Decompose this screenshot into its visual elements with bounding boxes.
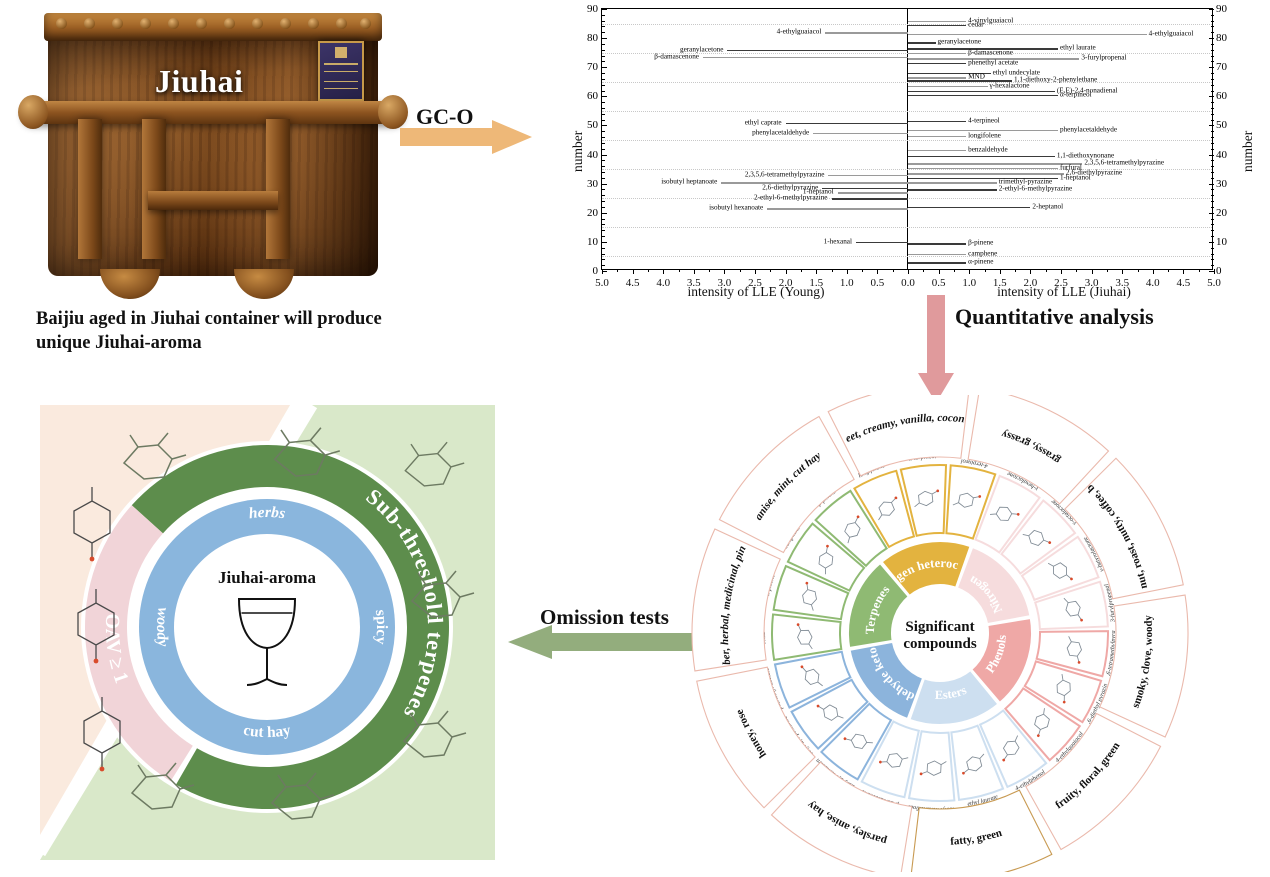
bar — [908, 34, 1147, 35]
y-tick-mark-minor — [1211, 236, 1214, 237]
y-tick-mark-minor — [1211, 108, 1214, 109]
bar-label: 3-furylpropenal — [1081, 55, 1126, 62]
bar-label: 2-ethyl-6-methylpyrazine — [754, 195, 827, 202]
y-tick-mark-minor — [602, 61, 605, 62]
y-tick-mark-minor — [1211, 248, 1214, 249]
x-tick-mark — [1214, 269, 1215, 274]
y-tick-mark — [1209, 184, 1214, 185]
vessel-rail-cap-left — [18, 95, 48, 129]
bar-label: β-damascenone — [654, 53, 699, 60]
y-tick-mark — [1209, 155, 1214, 156]
bar — [908, 207, 1030, 208]
x-tick-mark — [1153, 269, 1154, 274]
x-tick-mark-minor — [954, 269, 955, 272]
bar — [908, 95, 1058, 96]
y-tick-label: 0 — [1216, 265, 1222, 277]
y-tick-mark-minor — [602, 195, 605, 196]
y-tick-mark-minor — [602, 44, 605, 45]
significant-compounds-flavor-wheel: TerpenesOxygen heterocyclesNitrogenPheno… — [690, 395, 1270, 872]
y-tick-mark — [602, 67, 607, 68]
y-tick-mark — [1209, 242, 1214, 243]
jiuhai-title: Jiuhai — [155, 63, 243, 100]
x-tick-mark — [877, 269, 878, 274]
vessel-post-left — [78, 119, 102, 259]
bar-label: cedar — [968, 21, 984, 28]
bar — [908, 150, 966, 151]
bar — [908, 254, 966, 255]
y-tick-mark-minor — [1211, 32, 1214, 33]
y-tick-mark-minor — [602, 230, 605, 231]
y-tick-mark-minor — [1211, 50, 1214, 51]
y-tick-mark-minor — [1211, 85, 1214, 86]
x-tick-mark-minor — [1168, 269, 1169, 272]
y-tick-label: 90 — [587, 3, 598, 15]
y-tick-mark-minor — [1211, 15, 1214, 16]
bar — [822, 188, 908, 189]
x-tick-mark-minor — [770, 269, 771, 272]
x-tick-mark-minor — [648, 269, 649, 272]
x-tick-mark-minor — [1046, 269, 1047, 272]
vessel-crossbar — [148, 191, 278, 210]
x-tick-mark-minor — [679, 269, 680, 272]
y-tick-mark-minor — [1211, 61, 1214, 62]
y-tick-mark-minor — [602, 166, 605, 167]
x-axis-title-right: intensity of LLE (Jiuhai) — [997, 284, 1131, 300]
bar-label: ethyl caprate — [745, 119, 782, 126]
y-tick-label: 30 — [587, 178, 598, 190]
grid-line — [602, 111, 1212, 112]
y-tick-mark — [1209, 38, 1214, 39]
y-tick-label: 20 — [587, 207, 598, 219]
y-tick-label: 40 — [587, 149, 598, 161]
x-tick-label: 4.5 — [626, 277, 640, 289]
bar-label: 2-heptanol — [1032, 203, 1063, 210]
y-tick-mark — [1209, 125, 1214, 126]
bar-label: 4-terpineol — [968, 117, 1000, 124]
vessel-post-right — [266, 119, 290, 259]
y-tick-mark-minor — [602, 131, 605, 132]
x-tick-mark — [847, 269, 848, 274]
y-tick-label: 50 — [1216, 119, 1227, 131]
y-tick-mark-minor — [1211, 265, 1214, 266]
wheel-segment — [692, 529, 780, 671]
x-tick-mark — [969, 269, 970, 274]
y-tick-label: 80 — [587, 32, 598, 44]
bar-label: camphene — [968, 250, 997, 257]
x-tick-mark-minor — [1015, 269, 1016, 272]
y-tick-label: 50 — [587, 119, 598, 131]
bar — [767, 208, 908, 209]
y-tick-mark-minor — [1211, 259, 1214, 260]
bar-label: longifolene — [968, 132, 1001, 139]
y-axis-label-right: number — [1240, 131, 1256, 172]
y-tick-mark-minor — [602, 178, 605, 179]
y-tick-mark — [1209, 9, 1214, 10]
x-tick-mark — [1183, 269, 1184, 274]
y-tick-mark-minor — [602, 26, 605, 27]
x-tick-mark — [786, 269, 787, 274]
y-tick-mark-minor — [1211, 91, 1214, 92]
x-tick-mark-minor — [923, 269, 924, 272]
bar — [908, 63, 966, 64]
y-tick-label: 80 — [1216, 32, 1227, 44]
x-tick-mark — [1061, 269, 1062, 274]
jiuhai-photo: Jiuhai — [10, 5, 410, 305]
y-tick-label: 0 — [593, 265, 599, 277]
bar — [813, 133, 908, 134]
jiuhai-caption: Baijiu aged in Jiuhai container will pro… — [36, 307, 396, 356]
bar — [838, 192, 908, 193]
y-tick-label: 30 — [1216, 178, 1227, 190]
x-tick-mark-minor — [893, 269, 894, 272]
y-tick-mark-minor — [1211, 166, 1214, 167]
x-tick-mark-minor — [1076, 269, 1077, 272]
y-tick-mark-minor — [602, 114, 605, 115]
bar — [908, 243, 966, 244]
y-tick-mark — [602, 155, 607, 156]
aroma-label: cut hay — [242, 722, 292, 742]
bar — [908, 121, 966, 122]
x-tick-mark — [1000, 269, 1001, 274]
bar — [908, 77, 966, 78]
bar — [832, 198, 909, 199]
bar-label: 1-hexanal — [824, 238, 852, 245]
x-tick-mark — [1030, 269, 1031, 274]
quantitative-arrow-label: Quantitative analysis — [955, 304, 1154, 330]
bar-label: phenylacetaldehyde — [1060, 126, 1117, 133]
gco-plot-area: 00101020203030404050506060707080809090 4… — [601, 8, 1213, 270]
y-tick-mark-minor — [1211, 178, 1214, 179]
x-tick-mark — [1122, 269, 1123, 274]
bar-label: β-damascenone — [968, 49, 1013, 56]
y-tick-label: 70 — [1216, 61, 1227, 73]
y-tick-mark-minor — [1211, 102, 1214, 103]
y-tick-mark-minor — [602, 79, 605, 80]
y-tick-mark-minor — [1211, 73, 1214, 74]
x-tick-mark — [816, 269, 817, 274]
y-tick-mark-minor — [1211, 21, 1214, 22]
y-tick-mark-minor — [602, 91, 605, 92]
y-tick-mark-minor — [1211, 195, 1214, 196]
y-tick-mark-minor — [602, 207, 605, 208]
bar — [908, 25, 966, 26]
y-tick-mark — [602, 125, 607, 126]
bar-label: 4-ethylguaiacol — [1149, 30, 1194, 37]
bar — [908, 156, 1055, 157]
x-tick-mark — [724, 269, 725, 274]
bar — [908, 262, 966, 263]
y-tick-mark-minor — [602, 32, 605, 33]
bar — [908, 86, 988, 87]
aroma-label: herbs — [248, 504, 287, 522]
x-tick-mark-minor — [709, 269, 710, 272]
x-tick-mark — [602, 269, 603, 274]
y-tick-mark-minor — [602, 259, 605, 260]
y-tick-mark-minor — [602, 56, 605, 57]
y-tick-mark-minor — [602, 236, 605, 237]
y-tick-mark-minor — [602, 102, 605, 103]
bar — [703, 57, 908, 58]
y-tick-label: 70 — [587, 61, 598, 73]
y-tick-mark — [602, 9, 607, 10]
y-tick-label: 60 — [587, 90, 598, 102]
x-tick-label: 4.0 — [1146, 277, 1160, 289]
grid-line — [602, 227, 1212, 228]
y-tick-mark-minor — [602, 219, 605, 220]
x-tick-mark-minor — [832, 269, 833, 272]
x-tick-label: 0.5 — [871, 277, 885, 289]
vessel-leg-left — [100, 269, 160, 299]
y-tick-mark-minor — [1211, 207, 1214, 208]
y-tick-mark-minor — [1211, 131, 1214, 132]
y-tick-mark-minor — [1211, 79, 1214, 80]
y-tick-mark-minor — [1211, 219, 1214, 220]
y-tick-mark-minor — [1211, 254, 1214, 255]
x-tick-mark-minor — [862, 269, 863, 272]
bar-label: α-terpineol — [1060, 91, 1092, 98]
y-tick-mark-minor — [602, 137, 605, 138]
y-tick-mark-minor — [1211, 120, 1214, 121]
bar — [786, 123, 908, 124]
bar-label: isobutyl heptanoate — [661, 179, 717, 186]
x-tick-mark-minor — [985, 269, 986, 272]
y-tick-mark-minor — [602, 85, 605, 86]
bar-label: 2-ethyl-6-methylpyrazine — [999, 186, 1072, 193]
grid-line — [602, 82, 1212, 83]
vessel-rivets — [50, 18, 380, 34]
x-tick-label: 5.0 — [595, 277, 609, 289]
bar-label: γ-hexalactone — [990, 83, 1030, 90]
bar — [908, 163, 1082, 164]
y-tick-label: 20 — [1216, 207, 1227, 219]
y-tick-mark-minor — [602, 120, 605, 121]
aroma-label: woody — [153, 606, 172, 648]
y-tick-label: 90 — [1216, 3, 1227, 15]
y-tick-mark-minor — [1211, 114, 1214, 115]
y-tick-mark-minor — [602, 265, 605, 266]
bar-label: phenylacetaldehyde — [752, 129, 809, 136]
jiuhai-vessel-illustration — [48, 13, 378, 283]
vessel-leg-right — [234, 269, 294, 299]
aroma-core — [174, 534, 360, 720]
bar — [908, 189, 997, 190]
x-tick-mark — [939, 269, 940, 274]
x-tick-mark — [663, 269, 664, 274]
y-tick-mark-minor — [1211, 160, 1214, 161]
y-tick-mark-minor — [602, 224, 605, 225]
y-axis-label-left: number — [570, 131, 586, 172]
y-tick-mark-minor — [602, 189, 605, 190]
x-tick-mark — [633, 269, 634, 274]
x-tick-mark — [908, 269, 909, 274]
omission-arrow-label: Omission tests — [540, 605, 669, 630]
bar-label: isobutyl hexanoate — [709, 205, 763, 212]
vessel-post-mid — [142, 119, 166, 259]
x-tick-label: 0.0 — [901, 277, 915, 289]
y-tick-label: 60 — [1216, 90, 1227, 102]
y-tick-mark-minor — [1211, 56, 1214, 57]
bar-label: 1-heptanol — [1060, 174, 1091, 181]
y-tick-mark-minor — [602, 15, 605, 16]
grid-line — [602, 24, 1212, 25]
x-tick-mark-minor — [617, 269, 618, 272]
y-tick-mark-minor — [602, 50, 605, 51]
gco-arrow-label: GC-O — [416, 104, 473, 130]
y-tick-mark-minor — [602, 201, 605, 202]
x-tick-label: 1.0 — [840, 277, 854, 289]
bar-label: ethyl laurate — [1060, 45, 1096, 52]
x-axis-title-left: intensity of LLE (Young) — [688, 284, 825, 300]
grid-line — [602, 140, 1212, 141]
bar-label: α-pinene — [968, 259, 993, 266]
bar — [908, 91, 1055, 92]
y-tick-mark-minor — [1211, 137, 1214, 138]
x-tick-label: 5.0 — [1207, 277, 1221, 289]
y-tick-mark-minor — [602, 143, 605, 144]
y-tick-mark-minor — [602, 160, 605, 161]
y-tick-label: 10 — [1216, 236, 1227, 248]
x-tick-mark — [1092, 269, 1093, 274]
bar-label: 2,3,5,6-tetramethylpyrazine — [745, 171, 825, 178]
bar — [908, 168, 1058, 169]
x-tick-mark-minor — [740, 269, 741, 272]
wheel-center-text: Significant — [905, 619, 974, 635]
y-tick-mark-minor — [1211, 149, 1214, 150]
bar-label: 4-ethylguaiacol — [777, 29, 822, 36]
y-tick-mark-minor — [602, 172, 605, 173]
bar-label: phenethyl acetate — [968, 59, 1018, 66]
bar — [908, 21, 966, 22]
x-tick-mark-minor — [1138, 269, 1139, 272]
x-tick-label: 1.0 — [962, 277, 976, 289]
omission-arrow — [508, 625, 708, 661]
y-tick-mark — [602, 184, 607, 185]
jiuhai-aroma-panel: Sub-threshold terpenesOAV ≥ 1herbsspicyc… — [40, 405, 495, 860]
y-tick-mark-minor — [1211, 143, 1214, 144]
bar-label: benzaldehyde — [968, 147, 1008, 154]
y-tick-mark — [602, 96, 607, 97]
y-tick-mark — [1209, 96, 1214, 97]
y-tick-mark-minor — [1211, 230, 1214, 231]
bar-label: β-pinene — [968, 240, 993, 247]
y-tick-label: 40 — [1216, 149, 1227, 161]
bar-label: geranylacetone — [938, 39, 982, 46]
y-tick-mark — [602, 38, 607, 39]
y-tick-mark — [1209, 67, 1214, 68]
aroma-label: spicy — [372, 609, 390, 646]
y-tick-mark-minor — [1211, 189, 1214, 190]
y-tick-mark-minor — [602, 21, 605, 22]
bar — [825, 32, 908, 33]
y-tick-mark-minor — [1211, 201, 1214, 202]
y-tick-mark — [1209, 213, 1214, 214]
wheel-center-text: compounds — [903, 636, 977, 652]
x-tick-mark-minor — [801, 269, 802, 272]
bar — [908, 173, 1064, 174]
y-tick-mark-minor — [602, 149, 605, 150]
y-tick-mark-minor — [602, 108, 605, 109]
x-tick-label: 0.5 — [932, 277, 946, 289]
y-tick-mark-minor — [1211, 224, 1214, 225]
x-tick-mark-minor — [1199, 269, 1200, 272]
gco-chart: 00101020203030404050506060707080809090 4… — [556, 2, 1260, 302]
y-tick-mark-minor — [1211, 26, 1214, 27]
y-tick-mark-minor — [602, 73, 605, 74]
bar — [908, 136, 966, 137]
bar-label: 2,3,5,6-tetramethylpyrazine — [1084, 160, 1164, 167]
x-tick-mark — [694, 269, 695, 274]
x-tick-label: 4.5 — [1177, 277, 1191, 289]
y-tick-mark — [602, 213, 607, 214]
y-tick-mark-minor — [602, 254, 605, 255]
y-tick-mark — [602, 242, 607, 243]
bar — [856, 242, 908, 243]
aroma-center-title: Jiuhai-aroma — [218, 568, 316, 587]
x-tick-mark — [755, 269, 756, 274]
y-tick-mark-minor — [602, 248, 605, 249]
x-tick-label: 4.0 — [656, 277, 670, 289]
x-tick-mark-minor — [1107, 269, 1108, 272]
bar — [908, 42, 936, 43]
bar — [908, 182, 997, 183]
bar — [828, 175, 908, 176]
y-tick-mark-minor — [1211, 44, 1214, 45]
bar — [908, 53, 966, 54]
vessel-plaque — [318, 41, 364, 101]
y-tick-label: 10 — [587, 236, 598, 248]
grid-line — [602, 256, 1212, 257]
y-tick-mark-minor — [1211, 172, 1214, 173]
bar — [727, 50, 908, 51]
